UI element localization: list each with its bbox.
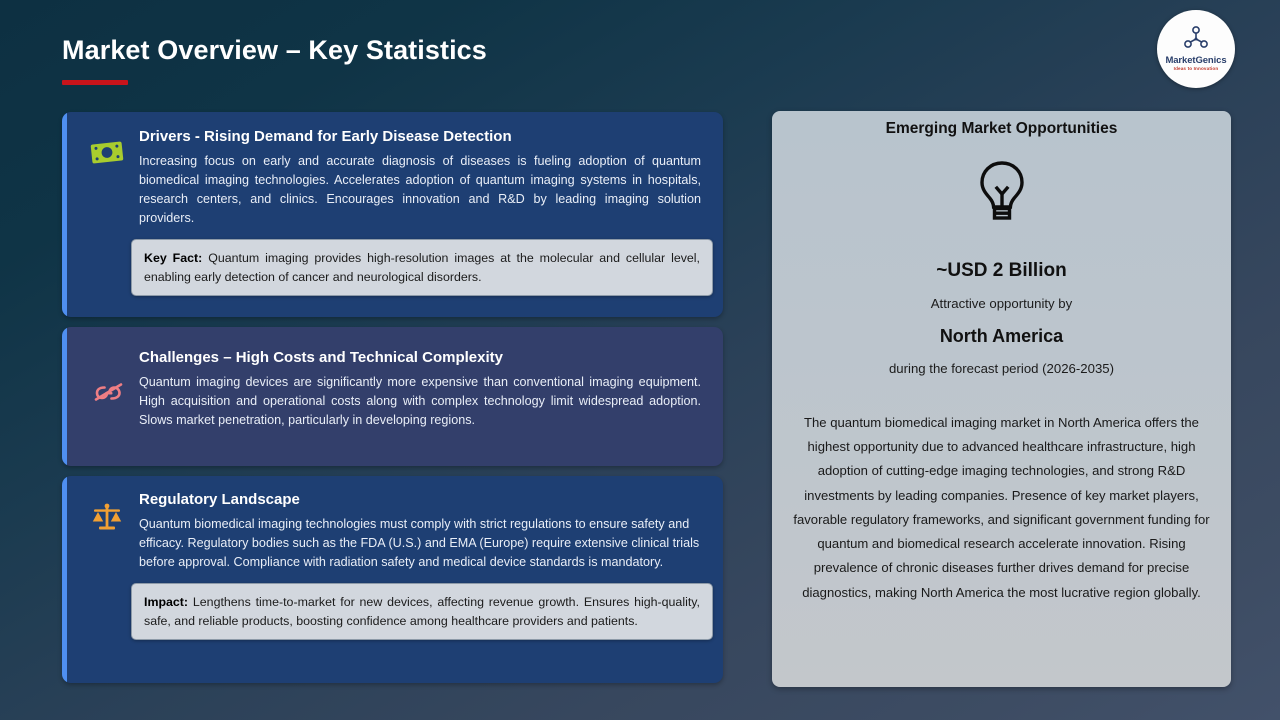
balance-scale-icon [88,498,126,536]
molecule-network-icon [1183,26,1209,55]
impact-box: Impact: Lengthens time-to-market for new… [131,583,713,640]
card-title: Challenges – High Costs and Technical Co… [139,349,701,368]
impact-text: Lengthens time-to-market for new devices… [144,595,700,627]
key-fact-text: Quantum imaging provides high-resolution… [144,251,700,283]
opportunity-value: ~USD 2 Billion [772,260,1231,282]
card-accent-bar [62,327,67,466]
title-underline-rule [62,80,128,85]
page-title: Market Overview – Key Statistics [62,36,962,66]
key-fact-label: Key Fact: [144,251,202,265]
opportunity-caption-top: Attractive opportunity by [772,296,1231,311]
key-fact-box: Key Fact: Quantum imaging provides high-… [131,239,713,296]
opportunity-title: Emerging Market Opportunities [772,111,1231,138]
opportunity-region: North America [772,326,1231,347]
emerging-opportunities-panel: Emerging Market Opportunities ~USD 2 Bil… [772,111,1231,687]
insight-cards-column: Drivers - Rising Demand for Early Diseas… [62,112,723,683]
logo-tagline: Ideas to Innovation [1174,67,1219,72]
impact-label: Impact: [144,595,188,609]
card-accent-bar [62,112,67,317]
banknote-icon [88,134,126,172]
opportunity-description: The quantum biomedical imaging market in… [789,411,1214,605]
card-body: Quantum imaging devices are significantl… [139,373,701,430]
header: Market Overview – Key Statistics [62,36,962,85]
card-title: Regulatory Landscape [139,491,701,510]
lightbulb-icon [772,158,1231,224]
card-challenges[interactable]: Challenges – High Costs and Technical Co… [62,327,723,466]
card-body: Increasing focus on early and accurate d… [139,152,701,229]
card-accent-bar [62,476,67,683]
logo-wordmark: MarketGenics [1165,56,1226,66]
card-regulatory[interactable]: Regulatory Landscape Quantum biomedical … [62,476,723,683]
broken-chain-icon [90,373,128,411]
brand-logo: MarketGenics Ideas to Innovation [1157,10,1235,88]
card-body: Quantum biomedical imaging technologies … [139,515,701,572]
card-drivers[interactable]: Drivers - Rising Demand for Early Diseas… [62,112,723,317]
opportunity-forecast-period: during the forecast period (2026-2035) [772,361,1231,376]
slide-canvas: Market Overview – Key Statistics MarketG… [0,0,1280,720]
card-title: Drivers - Rising Demand for Early Diseas… [139,128,701,147]
